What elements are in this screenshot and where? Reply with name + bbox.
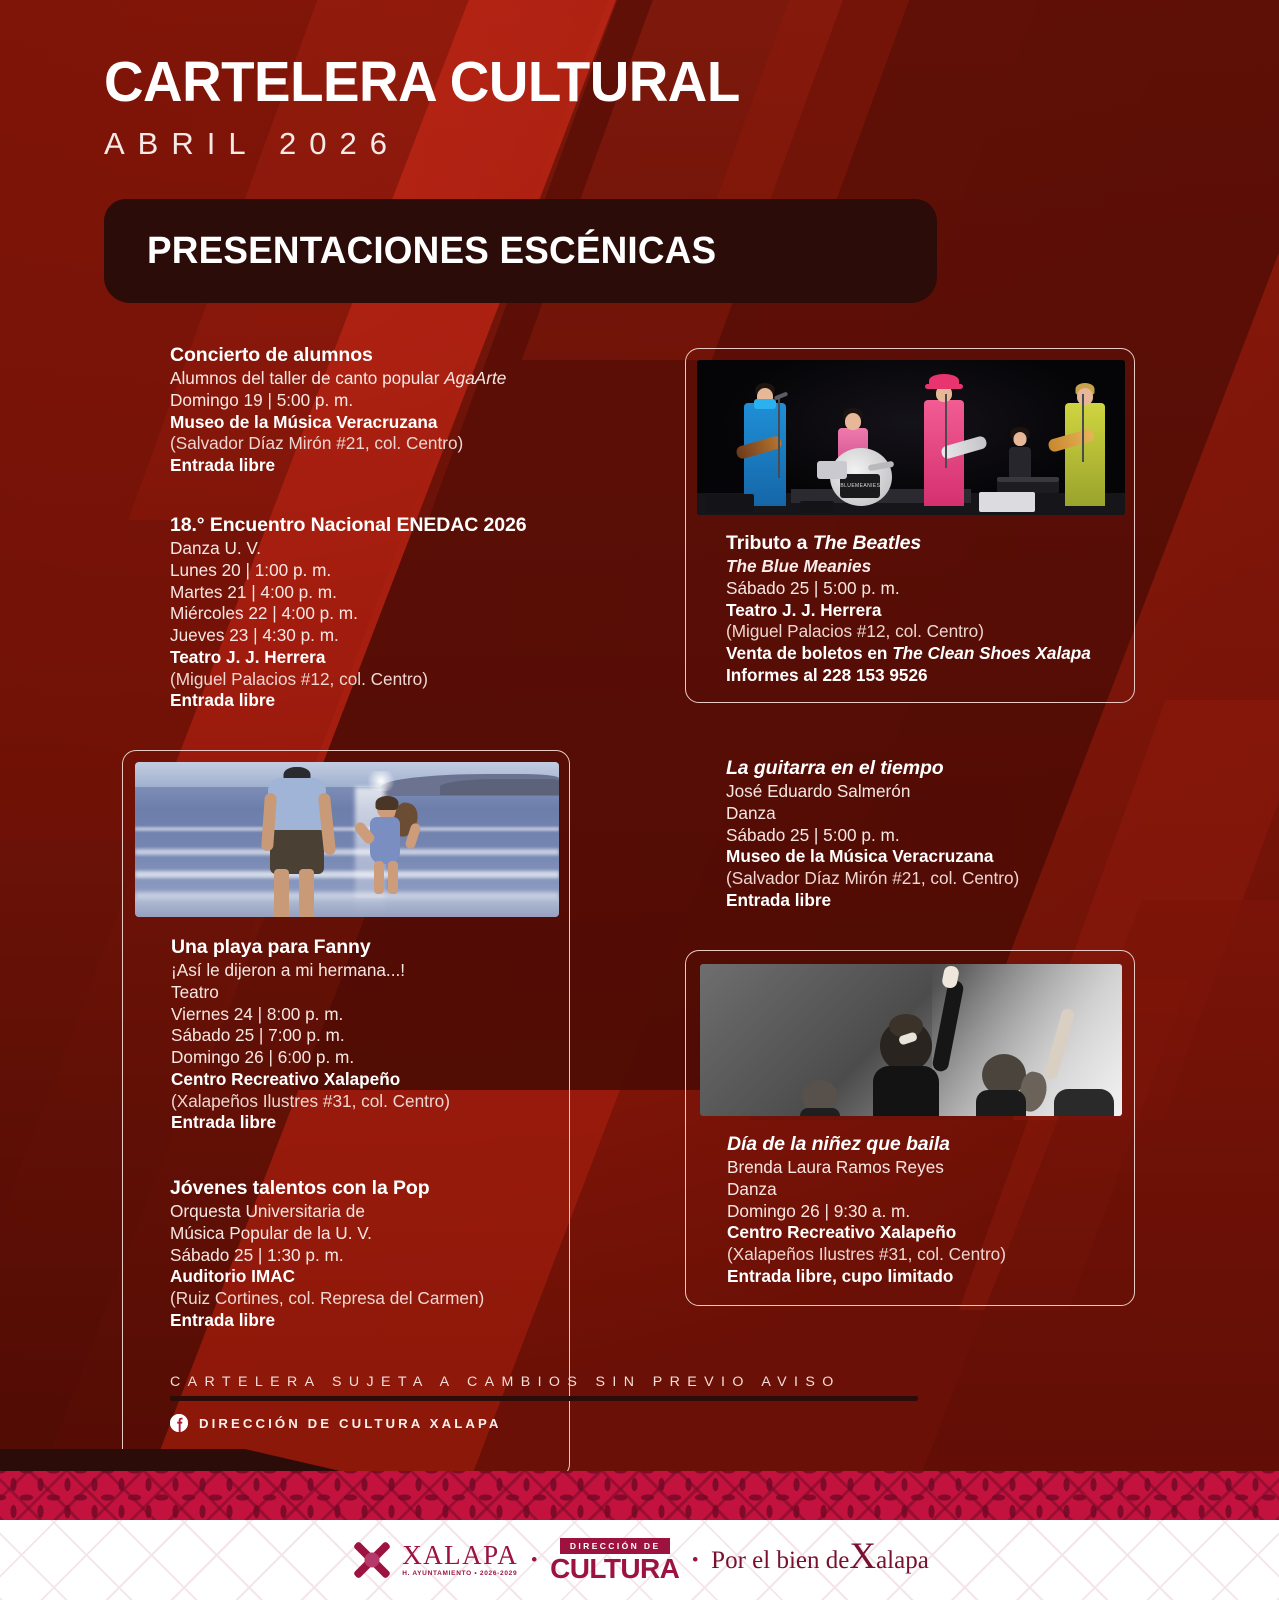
event-admission: Entrada libre	[726, 890, 1166, 912]
slogan-pre: Por el bien de	[711, 1547, 849, 1575]
event-performer-italic: AgaArte	[444, 368, 506, 388]
event-venue: Centro Recreativo Xalapeño	[727, 1222, 1127, 1244]
facebook-icon[interactable]	[170, 1414, 188, 1432]
event-image-tributo-a-the-beatles: BLUEMEANIES	[697, 360, 1125, 515]
event-discipline: Teatro	[171, 982, 551, 1004]
event-text-dia-de-la-ninez-que-baila: Día de la niñez que baila Brenda Laura R…	[727, 1133, 1127, 1288]
event-title: Día de la niñez que baila	[727, 1133, 1127, 1156]
slogan-post: alapa	[876, 1547, 929, 1575]
event-card-tributo-a-the-beatles: BLUEMEANIES	[685, 348, 1135, 703]
event-image-una-playa-para-fanny	[135, 762, 559, 917]
event-discipline: Danza	[726, 803, 1166, 825]
event-performer-prefix: Alumnos del taller de canto popular	[170, 368, 444, 388]
footer-divider	[170, 1396, 918, 1401]
event-tickets-italic: The Clean Shoes Xalapa	[892, 643, 1091, 663]
event-venue: Teatro J. J. Herrera	[726, 600, 1126, 622]
event-address: (Miguel Palacios #12, col. Centro)	[170, 669, 640, 691]
section-banner: PRESENTACIONES ESCÉNICAS	[104, 199, 937, 303]
event-text-tributo-a-the-beatles: Tributo a The Beatles The Blue Meanies S…	[726, 532, 1126, 687]
event-address: (Xalapeños Ilustres #31, col. Centro)	[727, 1244, 1127, 1266]
event-title: Jóvenes talentos con la Pop	[170, 1177, 630, 1200]
event-address: (Miguel Palacios #12, col. Centro)	[726, 621, 1126, 643]
event-date: Domingo 26 | 9:30 a. m.	[727, 1201, 1127, 1223]
slogan-x-glyph: X	[849, 1546, 876, 1568]
event-date-2: Sábado 25 | 7:00 p. m.	[171, 1025, 551, 1047]
event-title: 18.° Encuentro Nacional ENEDAC 2026	[170, 514, 640, 537]
poster-footer: CARTELERA SUJETA A CAMBIOS SIN PREVIO AV…	[170, 1374, 1070, 1432]
event-date-1: Viernes 24 | 8:00 p. m.	[171, 1004, 551, 1026]
poster-header: CARTELERA CULTURAL ABRIL 2026	[104, 54, 766, 159]
event-date-2: Martes 21 | 4:00 p. m.	[170, 582, 640, 604]
poster-root: CARTELERA CULTURAL ABRIL 2026 PRESENTACI…	[0, 0, 1279, 1600]
event-title: Tributo a The Beatles	[726, 532, 1126, 555]
event-date-3: Domingo 26 | 6:00 p. m.	[171, 1047, 551, 1069]
event-discipline: Danza U. V.	[170, 538, 640, 560]
event-performer: The Blue Meanies	[726, 556, 1126, 578]
event-address: (Xalapeños Ilustres #31, col. Centro)	[171, 1091, 551, 1113]
event-title: La guitarra en el tiempo	[726, 757, 1166, 780]
event-tickets: Venta de boletos en The Clean Shoes Xala…	[726, 643, 1126, 665]
xalapa-subtitle: H. AYUNTAMIENTO • 2026-2029	[402, 1571, 518, 1578]
event-date: Domingo 19 | 5:00 p. m.	[170, 390, 630, 412]
logo-group: XALAPA H. AYUNTAMIENTO • 2026-2029 • DIR…	[350, 1538, 929, 1583]
page-subtitle: ABRIL 2026	[104, 128, 766, 159]
page-title: CARTELERA CULTURAL	[104, 54, 740, 111]
event-image-dia-de-la-ninez-que-baila	[700, 964, 1122, 1116]
event-performer: Alumnos del taller de canto popular AgaA…	[170, 368, 630, 390]
cultura-wordmark: CULTURA	[550, 1555, 679, 1583]
footer-social-link[interactable]: DIRECCIÓN DE CULTURA XALAPA	[170, 1414, 1070, 1432]
event-date: Sábado 25 | 5:00 p. m.	[726, 578, 1126, 600]
event-date-3: Miércoles 22 | 4:00 p. m.	[170, 603, 640, 625]
event-admission: Entrada libre	[171, 1112, 551, 1134]
footer-social-label: DIRECCIÓN DE CULTURA XALAPA	[199, 1416, 502, 1431]
logo-separator-1: •	[531, 1550, 537, 1570]
event-enedac-2026: 18.° Encuentro Nacional ENEDAC 2026 Danz…	[170, 514, 640, 712]
event-tickets-prefix: Venta de boletos en	[726, 643, 892, 663]
event-concierto-de-alumnos: Concierto de alumnos Alumnos del taller …	[170, 344, 630, 477]
event-text-una-playa-para-fanny: Una playa para Fanny ¡Así le dijeron a m…	[171, 936, 551, 1134]
event-date-4: Jueves 23 | 4:30 p. m.	[170, 625, 640, 647]
event-tagline: ¡Así le dijeron a mi hermana...!	[171, 960, 551, 982]
logo-bar: XALAPA H. AYUNTAMIENTO • 2026-2029 • DIR…	[0, 1520, 1279, 1600]
event-admission: Entrada libre	[170, 690, 640, 712]
event-date-1: Lunes 20 | 1:00 p. m.	[170, 560, 640, 582]
event-card-una-playa-para-fanny: Una playa para Fanny ¡Así le dijeron a m…	[122, 750, 570, 1478]
decorative-pattern-band	[0, 1471, 1279, 1520]
xalapa-star-icon	[350, 1538, 394, 1582]
event-admission: Entrada libre	[170, 455, 630, 477]
event-performer-line-1: Orquesta Universitaria de	[170, 1201, 630, 1223]
event-address: (Salvador Díaz Mirón #21, col. Centro)	[170, 433, 630, 455]
event-title: Concierto de alumnos	[170, 344, 630, 367]
event-date: Sábado 25 | 1:30 p. m.	[170, 1245, 630, 1267]
event-performer: José Eduardo Salmerón	[726, 781, 1166, 803]
event-performer-line-2: Música Popular de la U. V.	[170, 1223, 630, 1245]
xalapa-wordmark: XALAPA H. AYUNTAMIENTO • 2026-2029	[402, 1542, 518, 1578]
footer-disclaimer: CARTELERA SUJETA A CAMBIOS SIN PREVIO AV…	[170, 1374, 1070, 1390]
event-title-prefix: Tributo a	[726, 532, 813, 554]
event-info-phone: Informes al 228 153 9526	[726, 665, 1126, 687]
event-address: (Ruiz Cortines, col. Represa del Carmen)	[170, 1288, 630, 1310]
event-admission: Entrada libre	[170, 1310, 630, 1332]
xalapa-city-logo: XALAPA H. AYUNTAMIENTO • 2026-2029	[350, 1538, 518, 1582]
event-discipline: Danza	[727, 1179, 1127, 1201]
event-title-italic: The Beatles	[813, 532, 921, 554]
event-venue: Auditorio IMAC	[170, 1266, 630, 1288]
event-venue: Centro Recreativo Xalapeño	[171, 1069, 551, 1091]
section-banner-label: PRESENTACIONES ESCÉNICAS	[147, 230, 716, 273]
event-la-guitarra-en-el-tiempo: La guitarra en el tiempo José Eduardo Sa…	[726, 757, 1166, 912]
event-venue: Teatro J. J. Herrera	[170, 647, 640, 669]
event-jovenes-talentos-con-la-pop: Jóvenes talentos con la Pop Orquesta Uni…	[170, 1177, 630, 1332]
cultura-eyebrow: DIRECCIÓN DE	[560, 1538, 670, 1554]
event-address: (Salvador Díaz Mirón #21, col. Centro)	[726, 868, 1166, 890]
slogan-lockup: Por el bien de X alapa	[711, 1546, 929, 1575]
event-venue: Museo de la Música Veracruzana	[170, 412, 630, 434]
pattern-dots-horizontal	[0, 1471, 1279, 1520]
direccion-de-cultura-logo: DIRECCIÓN DE CULTURA	[550, 1538, 679, 1583]
event-performer: Brenda Laura Ramos Reyes	[727, 1157, 1127, 1179]
xalapa-name: XALAPA	[402, 1542, 518, 1569]
logo-separator-2: •	[692, 1550, 698, 1570]
event-date: Sábado 25 | 5:00 p. m.	[726, 825, 1166, 847]
event-venue: Museo de la Música Veracruzana	[726, 846, 1166, 868]
event-title: Una playa para Fanny	[171, 936, 551, 959]
event-card-dia-de-la-ninez-que-baila: Día de la niñez que baila Brenda Laura R…	[685, 950, 1135, 1306]
event-admission: Entrada libre, cupo limitado	[727, 1266, 1127, 1288]
